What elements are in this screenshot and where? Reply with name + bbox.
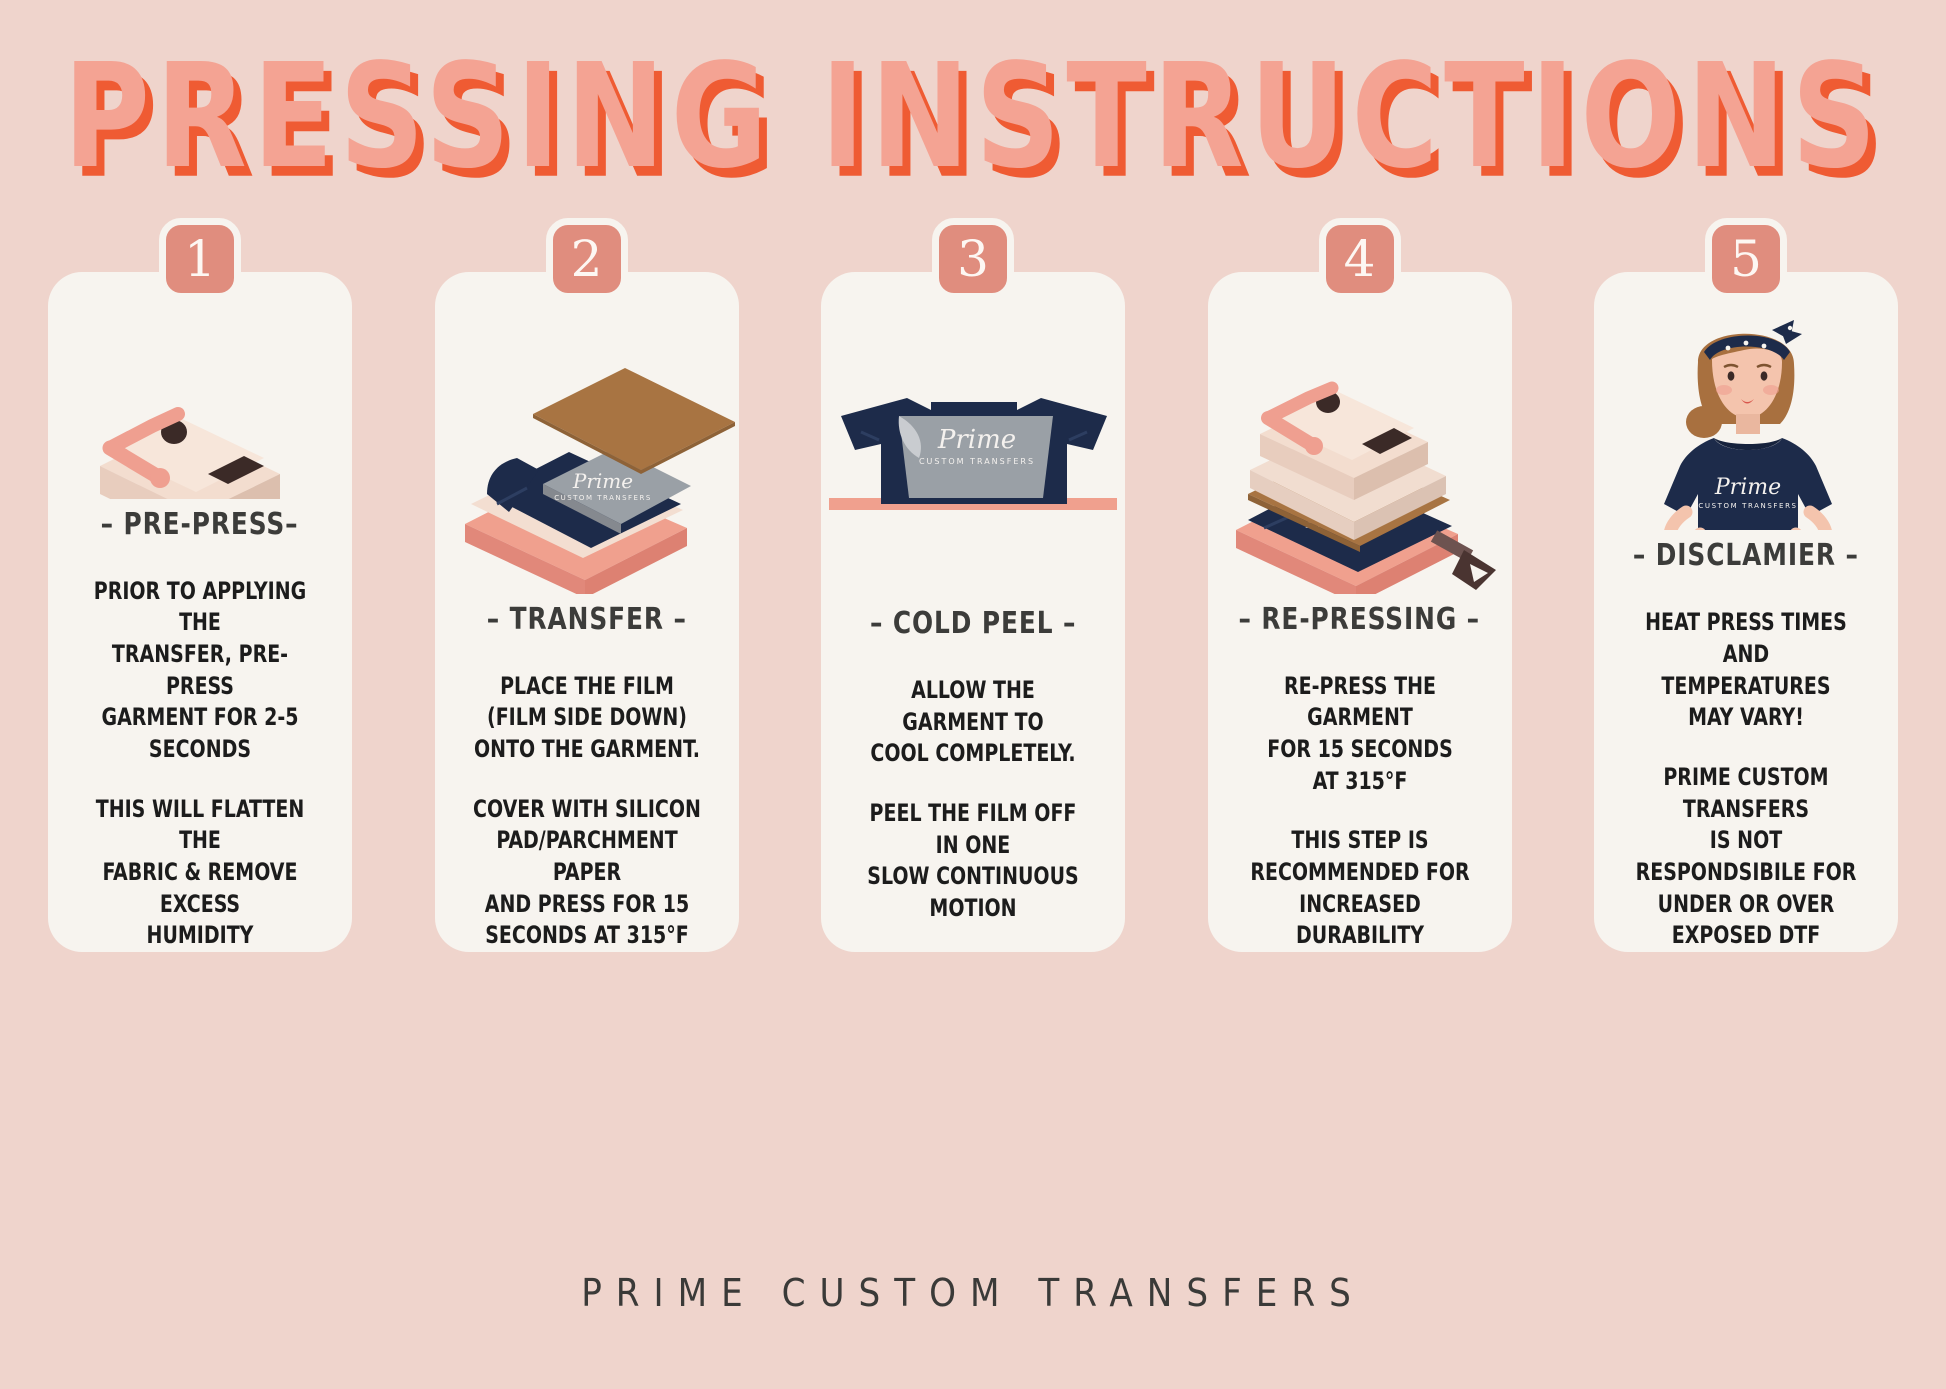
- parchment-over-film-on-garment-illustration: Prime CUSTOM TRANSFERS: [435, 298, 739, 594]
- svg-text:Prime: Prime: [571, 469, 632, 493]
- svg-text:Prime: Prime: [937, 425, 1016, 455]
- step-body-3: ALLOW THE GARMENT TO COOL COMPLETELY. PE…: [839, 675, 1107, 925]
- step-heading-4: – RE-PRESSING –: [1239, 602, 1481, 637]
- step-paragraph: PRIOR TO APPLYING THE TRANSFER, PRE-PRES…: [82, 576, 318, 766]
- step-paragraph: ALLOW THE GARMENT TO COOL COMPLETELY.: [855, 675, 1091, 770]
- step-number-badge-5: 5: [1705, 218, 1787, 300]
- svg-text:CUSTOM TRANSFERS: CUSTOM TRANSFERS: [1698, 502, 1797, 510]
- heat-press-repressing-garment-illustration: Prime: [1208, 298, 1512, 594]
- step-paragraph: THIS STEP IS RECOMMENDED FOR INCREASED D…: [1242, 825, 1478, 952]
- step-body-5: HEAT PRESS TIMES AND TEMPERATURES MAY VA…: [1612, 607, 1880, 952]
- step-heading-5: – DISCLAMIER –: [1633, 538, 1859, 573]
- peeling-film-off-shirt-illustration: Prime CUSTOM TRANSFERS: [821, 298, 1125, 598]
- step-body-2: PLACE THE FILM (FILM SIDE DOWN) ONTO THE…: [453, 671, 721, 952]
- step-paragraph: HEAT PRESS TIMES AND TEMPERATURES MAY VA…: [1628, 607, 1864, 734]
- step-heading-2: – TRANSFER –: [486, 602, 686, 637]
- step-card-4: 4 Prime: [1208, 272, 1512, 952]
- svg-text:Prime: Prime: [1714, 475, 1781, 500]
- step-heading-1: – PRE-PRESS–: [101, 507, 299, 542]
- step-number-badge-3: 3: [932, 218, 1014, 300]
- page-title-area: PRESSING INSTRUCTIONS: [0, 44, 1946, 184]
- step-number-badge-2: 2: [546, 218, 628, 300]
- step-heading-3: – COLD PEEL –: [870, 606, 1076, 641]
- step-card-2: 2 Prime CUSTOM TRANSFERS: [435, 272, 739, 952]
- svg-text:CUSTOM TRANSFERS: CUSTOM TRANSFERS: [554, 494, 652, 502]
- step-paragraph: PEEL THE FILM OFF IN ONE SLOW CONTINUOUS…: [855, 798, 1091, 925]
- heat-press-pressing-garment-illustration: [48, 298, 352, 499]
- steps-container: 1: [48, 272, 1898, 952]
- woman-wearing-printed-shirt-illustration: Prime CUSTOM TRANSFERS: [1594, 298, 1898, 530]
- step-paragraph: RE-PRESS THE GARMENT FOR 15 SECONDS AT 3…: [1242, 671, 1478, 798]
- step-paragraph: PLACE THE FILM (FILM SIDE DOWN) ONTO THE…: [469, 671, 705, 766]
- step-number-badge-4: 4: [1319, 218, 1401, 300]
- step-card-3: 3 Prime CUSTOM TRANSFERS – COL: [821, 272, 1125, 952]
- step-paragraph: THIS WILL FLATTEN THE FABRIC & REMOVE EX…: [82, 794, 318, 952]
- step-paragraph: COVER WITH SILICON PAD/PARCHMENT PAPER A…: [469, 794, 705, 952]
- step-number-badge-1: 1: [159, 218, 241, 300]
- step-body-4: RE-PRESS THE GARMENT FOR 15 SECONDS AT 3…: [1226, 671, 1494, 952]
- step-body-1: PRIOR TO APPLYING THE TRANSFER, PRE-PRES…: [66, 576, 334, 952]
- brand-footer: PRIME CUSTOM TRANSFERS: [0, 1271, 1946, 1315]
- page-title: PRESSING INSTRUCTIONS: [63, 44, 1882, 188]
- step-paragraph: PRIME CUSTOM TRANSFERS IS NOT RESPONDSIB…: [1628, 762, 1864, 952]
- svg-text:CUSTOM TRANSFERS: CUSTOM TRANSFERS: [919, 457, 1035, 466]
- step-card-1: 1: [48, 272, 352, 952]
- step-card-5: 5: [1594, 272, 1898, 952]
- pressing-instructions-infographic: { "header": { "title": "PRESSING INSTRUC…: [0, 0, 1946, 1389]
